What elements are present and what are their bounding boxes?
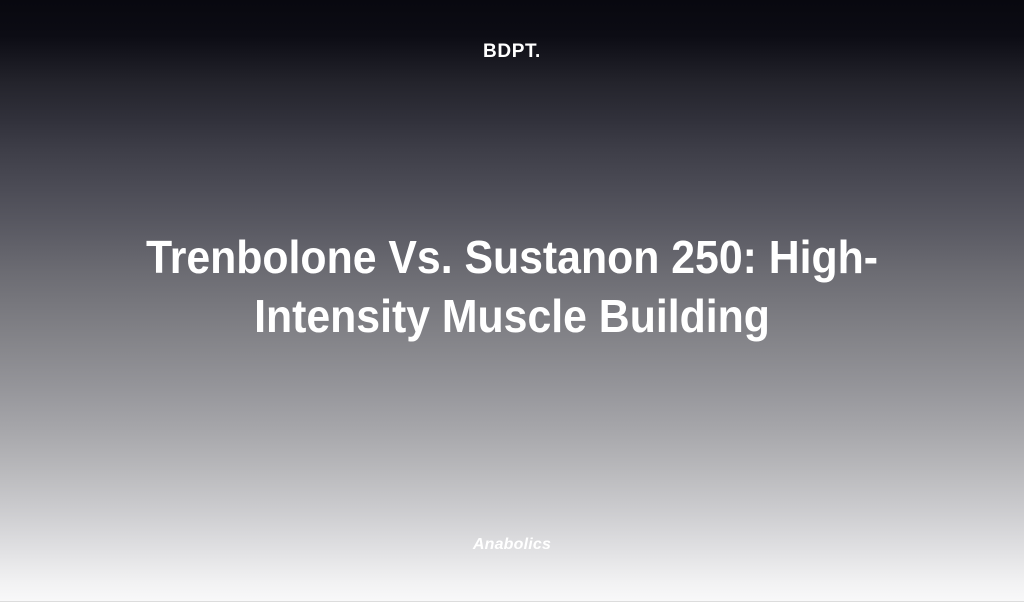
brand-logo[interactable]: BDPT. [483, 42, 541, 61]
hero-title-container: Trenbolone Vs. Sustanon 250: High-Intens… [0, 228, 1024, 346]
hero-category-container: Anabolics [0, 535, 1024, 554]
page-title: Trenbolone Vs. Sustanon 250: High-Intens… [94, 228, 931, 346]
hero-banner: BDPT. Trenbolone Vs. Sustanon 250: High-… [0, 0, 1024, 602]
category-label[interactable]: Anabolics [473, 535, 551, 554]
